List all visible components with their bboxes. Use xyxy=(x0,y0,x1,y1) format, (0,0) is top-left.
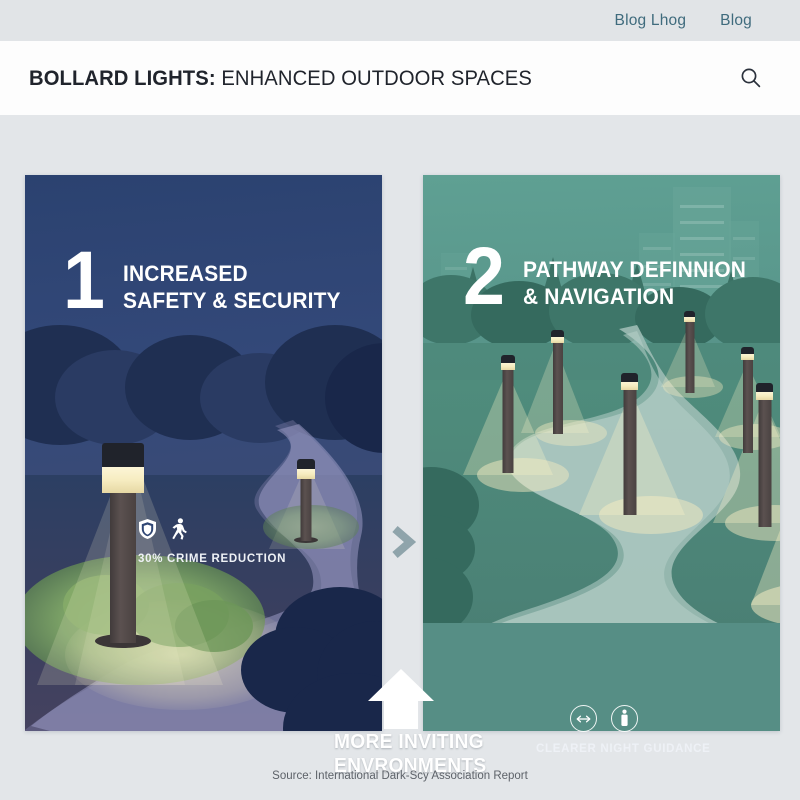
card-1-metric: 30% CRIME REDUCTION xyxy=(138,553,286,565)
bollard-light xyxy=(684,311,695,393)
benefit-card-2[interactable]: 2 PATHWAY DEFINNION & NAVIGATION xyxy=(423,175,780,731)
bollard-lens xyxy=(297,468,315,479)
card-2-icon-row xyxy=(570,705,638,732)
chevron-right-icon xyxy=(386,523,418,561)
bollard-person-icon xyxy=(618,709,631,728)
card-1-headline: INCREASED SAFETY & SECURITY xyxy=(123,261,341,315)
bollard-light xyxy=(741,347,754,453)
bollard-post xyxy=(110,491,136,643)
left-right-arrow-icon-circle xyxy=(570,705,597,732)
card-2-headline: PATHWAY DEFINNION & NAVIGATION xyxy=(523,257,746,311)
infographic-stage: 1 INCREASED SAFETY & SECURITY 30% CRIME … xyxy=(0,115,800,800)
benefit-card-1[interactable]: 1 INCREASED SAFETY & SECURITY 30% CRIME … xyxy=(25,175,382,731)
shield-icon xyxy=(138,518,157,540)
bollard-light-primary xyxy=(102,443,144,643)
bollard-light xyxy=(756,383,773,527)
nav-link-blog-lhog[interactable]: Blog Lhog xyxy=(615,12,687,30)
bollard-person-icon-circle xyxy=(611,705,638,732)
bollard-cap xyxy=(102,443,144,467)
chevron-right-button[interactable] xyxy=(386,523,418,561)
source-note: Source: International Dark-Scy Associati… xyxy=(0,770,800,782)
page-title-light: ENHANCED OUTDOOR SPACES xyxy=(216,66,532,90)
top-navigation-bar: Blog Lhog Blog xyxy=(0,0,800,41)
card-1-icon-row xyxy=(138,518,188,540)
bollard-cap xyxy=(297,459,315,469)
card-2-heading: 2 PATHWAY DEFINNION & NAVIGATION xyxy=(463,243,757,311)
up-arrow-indicator xyxy=(366,667,436,729)
search-button[interactable] xyxy=(738,65,764,91)
pedestrian-icon xyxy=(171,518,188,540)
card-2-number: 2 xyxy=(463,243,505,310)
nav-link-blog[interactable]: Blog xyxy=(720,12,752,30)
arrow-up-icon xyxy=(366,667,436,729)
card-1-heading: 1 INCREASED SAFETY & SECURITY xyxy=(63,247,352,315)
search-icon xyxy=(738,65,764,91)
bollard-light xyxy=(621,373,638,515)
bollard-lens xyxy=(102,465,144,493)
bollard-post xyxy=(301,479,312,541)
bollard-light xyxy=(551,330,564,434)
left-right-arrow-icon xyxy=(575,714,592,724)
bollard-light xyxy=(501,355,515,473)
page-title: BOLLARD LIGHTS: ENHANCED OUTDOOR SPACES xyxy=(29,66,532,91)
page-header: BOLLARD LIGHTS: ENHANCED OUTDOOR SPACES xyxy=(0,41,800,115)
page-title-strong: BOLLARD LIGHTS: xyxy=(29,66,216,90)
card-1-number: 1 xyxy=(63,247,105,314)
bollard-light-secondary xyxy=(297,459,315,541)
